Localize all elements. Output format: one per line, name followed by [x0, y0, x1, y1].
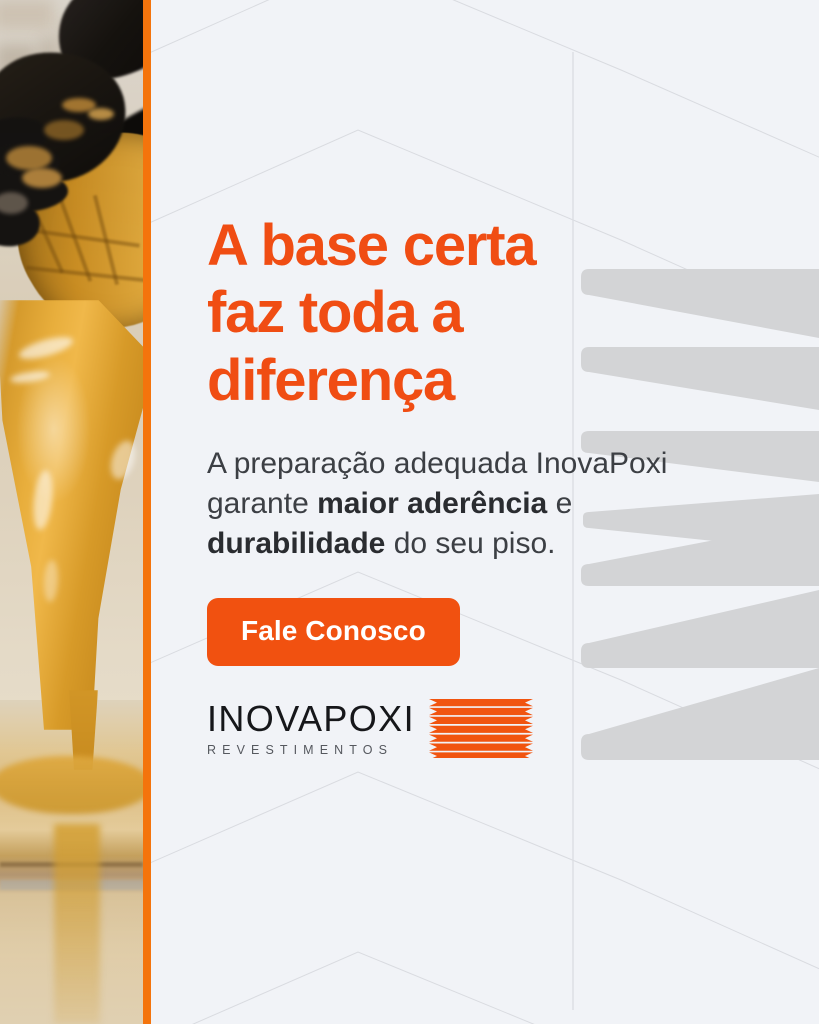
subcopy-plain-1: A preparação adequada	[207, 447, 527, 480]
content-panel: A base certa faz toda a diferença A prep…	[151, 0, 819, 1024]
photo-vignette	[0, 0, 143, 1024]
advertisement-creative: A base certa faz toda a diferença A prep…	[0, 0, 819, 1024]
subcopy-bold-2: aderência	[407, 487, 547, 520]
subcopy-bold-1: maior	[317, 487, 399, 520]
subcopy-text: A preparação adequada InovaPoxi garante …	[207, 444, 677, 565]
brand-logo[interactable]: INOVAPOXI REVESTIMENTOS	[207, 698, 707, 758]
hero-photo	[0, 0, 143, 1024]
logo-tagline: REVESTIMENTOS	[207, 744, 415, 757]
logo-brand-name: INOVAPOXI	[207, 701, 415, 737]
inovapoxi-bars-icon	[429, 698, 533, 758]
subcopy-plain-3: do seu piso.	[394, 527, 556, 560]
subcopy-bold-3: durabilidade	[207, 527, 385, 560]
orange-divider	[143, 0, 151, 1024]
page-title: A base certa faz toda a diferença	[207, 212, 707, 414]
fale-conosco-button[interactable]: Fale Conosco	[207, 598, 460, 666]
content-block: A base certa faz toda a diferença A prep…	[207, 212, 707, 758]
subcopy-connector: e	[547, 487, 572, 520]
logo-wordmark: INOVAPOXI REVESTIMENTOS	[207, 701, 415, 757]
